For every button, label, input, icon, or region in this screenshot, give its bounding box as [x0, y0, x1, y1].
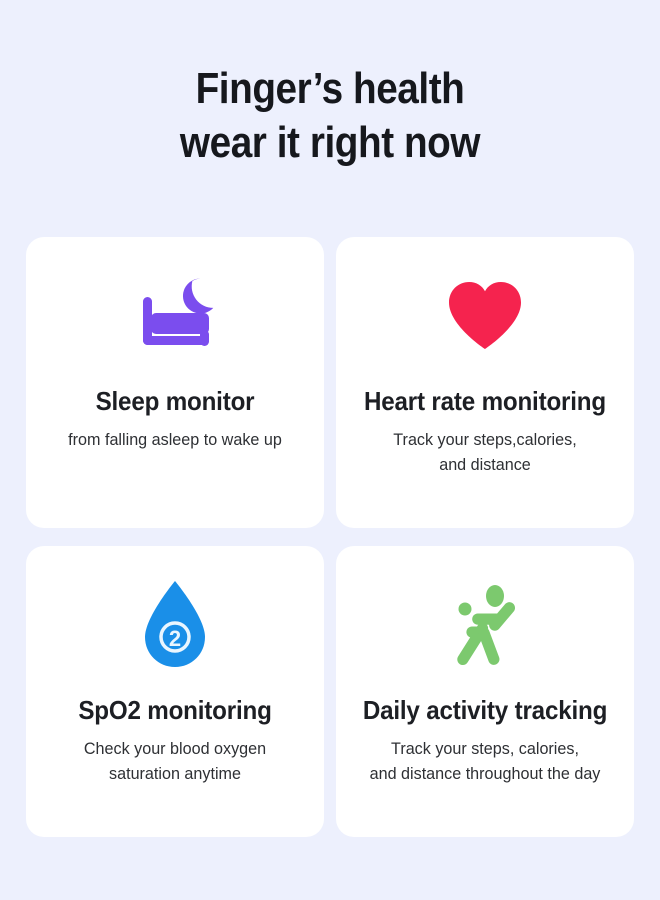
feature-card-grid: Sleep monitor from falling asleep to wak… — [26, 237, 634, 837]
page-title-line-1: Finger’s health — [40, 62, 621, 116]
feature-card-heart-rate-monitoring[interactable]: Heart rate monitoring Track your steps,c… — [336, 237, 634, 528]
card-subtitle-line: and distance — [359, 452, 612, 477]
card-subtitle-line: from falling asleep to wake up — [49, 427, 302, 452]
heart-icon — [336, 261, 634, 371]
card-subtitle-line: Check your blood oxygen — [49, 736, 302, 761]
water-drop-o2-icon: 2 — [26, 570, 324, 680]
feature-card-sleep-monitor[interactable]: Sleep monitor from falling asleep to wak… — [26, 237, 324, 528]
promo-feature-page: Finger’s health wear it right now Sleep … — [0, 0, 660, 900]
feature-card-daily-activity-tracking[interactable]: Daily activity tracking Track your steps… — [336, 546, 634, 837]
feature-card-spo2-monitoring[interactable]: 2 SpO2 monitoring Check your blood oxyge… — [26, 546, 324, 837]
card-title: Sleep monitor — [36, 385, 313, 417]
card-subtitle-line: and distance throughout the day — [359, 761, 612, 786]
card-title: Daily activity tracking — [346, 694, 623, 726]
card-subtitle-line: Track your steps,calories, — [359, 427, 612, 452]
page-title-line-2: wear it right now — [40, 116, 621, 170]
card-subtitle: Track your steps, calories, and distance… — [343, 736, 626, 786]
card-subtitle: Check your blood oxygen saturation anyti… — [33, 736, 316, 786]
page-title: Finger’s health wear it right now — [40, 62, 621, 170]
card-subtitle-line: Track your steps, calories, — [359, 736, 612, 761]
card-subtitle: from falling asleep to wake up — [33, 427, 316, 452]
card-title: Heart rate monitoring — [346, 385, 623, 417]
bed-moon-icon — [26, 261, 324, 371]
card-subtitle: Track your steps,calories, and distance — [343, 427, 626, 477]
drop-badge-label: 2 — [169, 626, 181, 651]
running-person-icon — [336, 570, 634, 680]
card-subtitle-line: saturation anytime — [49, 761, 302, 786]
card-title: SpO2 monitoring — [36, 694, 313, 726]
